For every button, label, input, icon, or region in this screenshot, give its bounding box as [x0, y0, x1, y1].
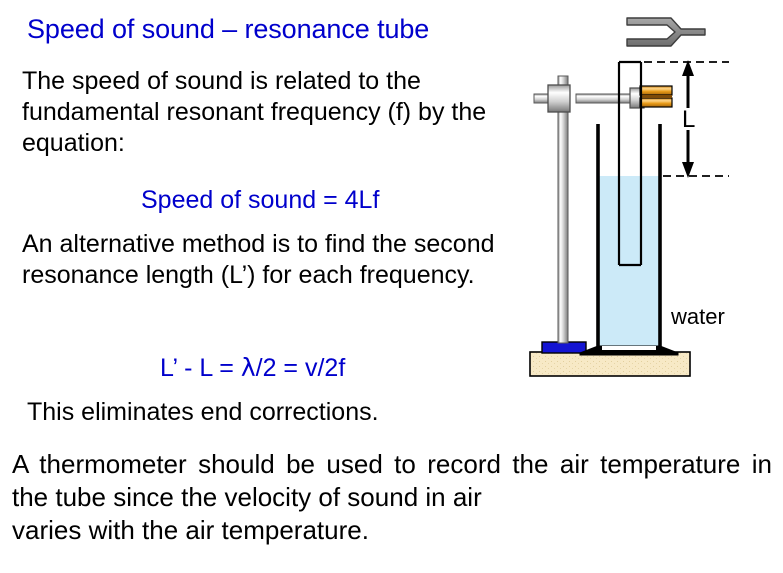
retort-stand-rod — [558, 76, 568, 343]
clamp-jaw — [640, 86, 672, 107]
bottom-line-1: A thermometer should be used to record t… — [12, 449, 589, 479]
resonance-tube-diagram — [520, 0, 783, 400]
water-body — [599, 176, 660, 346]
equation-suffix: /2 = v/2f — [256, 354, 346, 382]
equation-prefix: L’ - L = — [160, 354, 241, 382]
water-label: water — [671, 304, 725, 330]
equation-speed-of-sound: Speed of sound = 4Lf — [141, 186, 379, 215]
cylinder-base — [580, 346, 678, 355]
paragraph-intro: The speed of sound is related to the fun… — [22, 66, 522, 159]
lambda-symbol: λ — [241, 353, 256, 382]
bottom-line-3: varies with the air temperature. — [12, 514, 772, 547]
paragraph-alternative-method: An alternative method is to find the sec… — [22, 229, 532, 291]
tuning-fork-icon — [627, 18, 705, 46]
boss-head-clamp — [548, 85, 570, 112]
stand-foot — [542, 342, 586, 353]
page-title: Speed of sound – resonance tube — [27, 14, 429, 45]
equation-second-resonance: L’ - L = λ/2 = v/2f — [160, 353, 345, 383]
wooden-bench-board — [530, 352, 690, 376]
dimension-label-l: L — [682, 106, 695, 134]
paragraph-end-corrections: This eliminates end corrections. — [27, 397, 527, 428]
paragraph-thermometer-note: A thermometer should be used to record t… — [12, 448, 772, 547]
